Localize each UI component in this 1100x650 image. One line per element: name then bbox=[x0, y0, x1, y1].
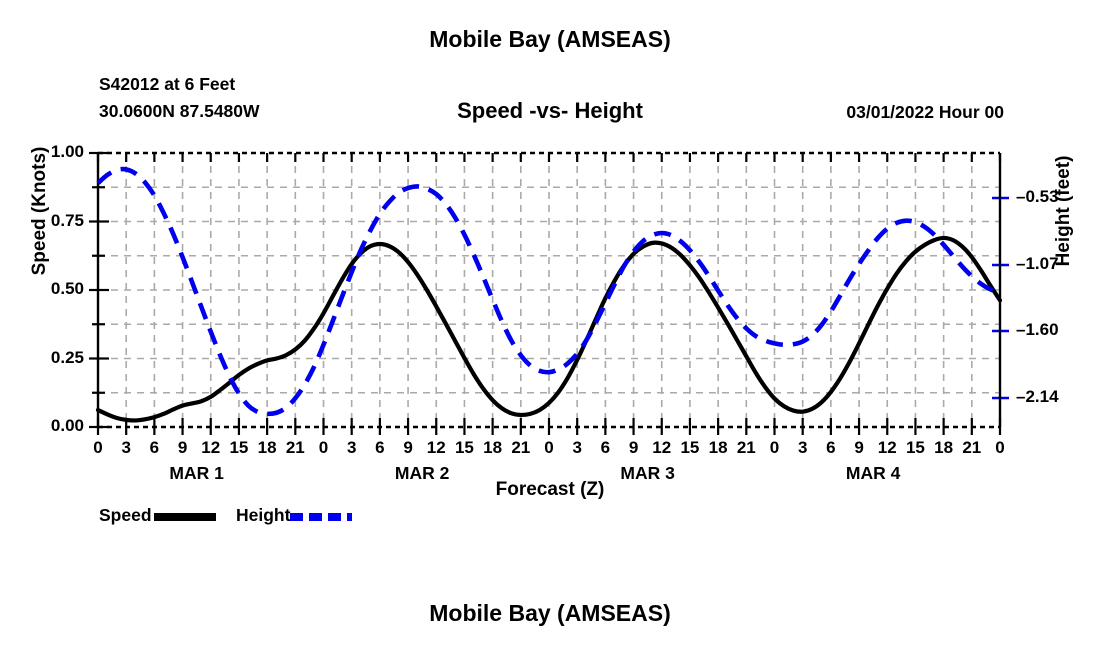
x-axis-day-label: MAR 3 bbox=[588, 463, 708, 484]
y-axis-left-ticklabel: 0.00 bbox=[14, 416, 84, 436]
y-axis-left-ticklabel: 0.25 bbox=[14, 348, 84, 368]
legend-item-speed: Speed bbox=[99, 505, 232, 526]
y-axis-left-ticklabel: 1.00 bbox=[14, 142, 84, 162]
x-axis-day-label: MAR 2 bbox=[362, 463, 482, 484]
x-axis-day-label: MAR 4 bbox=[813, 463, 933, 484]
y-axis-right-ticklabel: –2.14 bbox=[1016, 387, 1096, 407]
y-axis-left-ticklabel: 0.50 bbox=[14, 279, 84, 299]
y-axis-right-ticklabel: –0.53 bbox=[1016, 187, 1096, 207]
legend-label-speed: Speed bbox=[99, 505, 152, 526]
y-axis-right-title: Height (feet) bbox=[1053, 91, 1075, 331]
legend-swatch-speed-icon bbox=[154, 513, 216, 521]
legend-item-height: Height bbox=[236, 505, 352, 526]
chart-legend: Speed Height bbox=[99, 505, 352, 529]
y-axis-left-ticklabel: 0.75 bbox=[14, 211, 84, 231]
chart-plot-area bbox=[0, 0, 1100, 650]
x-axis-day-label: MAR 1 bbox=[137, 463, 257, 484]
legend-label-height: Height bbox=[236, 505, 290, 526]
y-axis-right-ticklabel: –1.07 bbox=[1016, 254, 1096, 274]
legend-swatch-height-icon bbox=[290, 513, 352, 521]
x-axis-ticklabel: 0 bbox=[980, 438, 1020, 458]
y-axis-right-ticklabel: –1.60 bbox=[1016, 320, 1096, 340]
footer-title: Mobile Bay (AMSEAS) bbox=[0, 600, 1100, 627]
